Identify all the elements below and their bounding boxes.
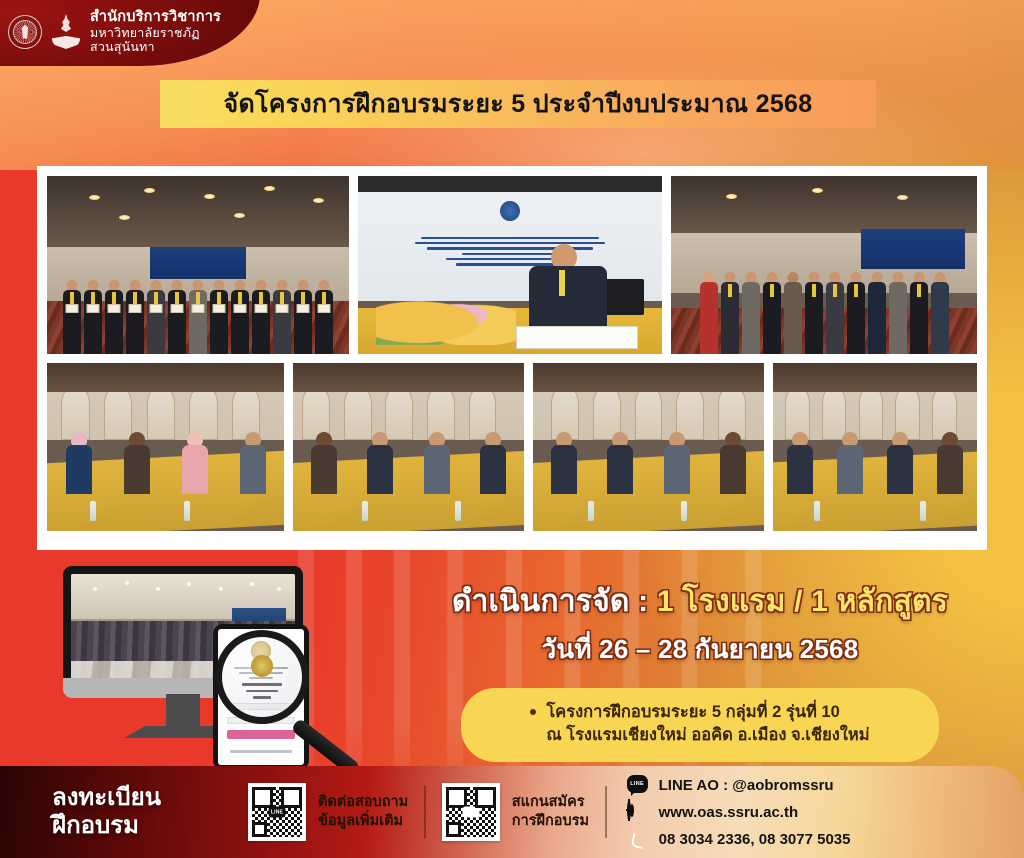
photo-row-top [47, 176, 977, 354]
photo-speaker-podium [358, 176, 662, 354]
qr-code-icon-register[interactable] [442, 783, 500, 841]
detail-line-1: โครงการฝึกอบรมระยะ 5 กลุ่มที่ 2 รุ่นที่ … [546, 701, 869, 724]
contact-line-row[interactable]: LINE LINE AO : @aobromssru [627, 775, 851, 796]
line-icon-badge: LINE [627, 775, 648, 793]
register-line1: ลงทะเบียน [52, 784, 248, 812]
bullet-dot-icon [530, 709, 536, 715]
contact-phone-row[interactable]: 08 3034 2336, 08 3077 5035 [627, 829, 851, 850]
date-line: วันที่ 26 – 28 กันยายน 2568 [400, 629, 1000, 670]
crown-book-emblem-icon [51, 14, 81, 50]
footer-divider-2 [605, 786, 607, 838]
headline-row: ดำเนินการจัด : 1 โรงแรม / 1 หลักสูตร [400, 578, 1000, 625]
qr-contact-group[interactable]: LINE ติดต่อสอบถาม ข้อมูลเพิ่มเติม [248, 783, 408, 841]
poster-root: สำนักบริการวิชาการ มหาวิทยาลัยราชภัฏสวนส… [0, 0, 1024, 858]
qr-register-label-line2: การฝึกอบรม [512, 812, 589, 831]
photo-group-certificates [47, 176, 349, 354]
qr-register-label-line1: สแกนสมัคร [512, 793, 589, 812]
contact-list: LINE LINE AO : @aobromssru www.oas.ssru.… [627, 775, 851, 850]
photo-large-group [671, 176, 977, 354]
qr-contact-label: ติดต่อสอบถาม ข้อมูลเพิ่มเติม [318, 793, 408, 831]
detail-line-2: ณ โรงแรมเชียงใหม่ ออคิด อ.เมือง จ.เชียงใ… [546, 724, 869, 747]
qr-register-badge [462, 807, 479, 818]
device-graphic [63, 566, 363, 771]
qr-line-badge: LINE [269, 807, 286, 818]
photo-audience-1 [47, 363, 284, 531]
photo-audience-4 [773, 363, 977, 531]
register-line2: ฝึกอบรม [52, 812, 248, 840]
register-label: ลงทะเบียน ฝึกอบรม [0, 784, 248, 840]
contact-line-text: LINE AO : @aobromssru [659, 777, 834, 794]
form-submit-button[interactable] [227, 730, 296, 739]
headline-prefix: ดำเนินการจัด : [452, 585, 657, 618]
qr-register-label: สแกนสมัคร การฝึกอบรม [512, 793, 589, 831]
photo-row-bottom [47, 363, 977, 531]
qr-code-icon-contact[interactable]: LINE [248, 783, 306, 841]
headline-highlight: 1 โรงแรม / 1 หลักสูตร [657, 585, 948, 618]
details-box: โครงการฝึกอบรมระยะ 5 กลุ่มที่ 2 รุ่นที่ … [461, 688, 939, 762]
qr-register-group[interactable]: สแกนสมัคร การฝึกอบรม [442, 783, 589, 841]
university-seal-icon [8, 15, 42, 49]
globe-icon [627, 802, 648, 823]
contact-phone-text: 08 3034 2336, 08 3077 5035 [659, 831, 851, 848]
footer-bar: ลงทะเบียน ฝึกอบรม LINE ติดต่อสอบถาม ข้อม… [0, 766, 1024, 858]
contact-website-row[interactable]: www.oas.ssru.ac.th [627, 802, 851, 823]
title-band: จัดโครงการฝึกอบรมระยะ 5 ประจำปีงบประมาณ … [160, 80, 876, 128]
line-icon: LINE [627, 775, 648, 796]
photo-audience-2 [293, 363, 524, 531]
photo-gallery-panel [37, 166, 987, 550]
header-org-line2: มหาวิทยาลัยราชภัฏสวนสุนันทา [90, 26, 260, 55]
phone-icon [627, 829, 648, 850]
header-org-name: สำนักบริการวิชาการ มหาวิทยาลัยราชภัฏสวนส… [90, 9, 260, 54]
page-title: จัดโครงการฝึกอบรมระยะ 5 ประจำปีงบประมาณ … [224, 84, 813, 124]
footer-divider-1 [424, 786, 426, 838]
header-org-line1: สำนักบริการวิชาการ [90, 9, 260, 26]
main-info-block: ดำเนินการจัด : 1 โรงแรม / 1 หลักสูตร วัน… [400, 578, 1000, 762]
qr-contact-label-line2: ข้อมูลเพิ่มเติม [318, 812, 408, 831]
qr-contact-label-line1: ติดต่อสอบถาม [318, 793, 408, 812]
contact-website-text: www.oas.ssru.ac.th [659, 804, 799, 821]
photo-audience-3 [533, 363, 764, 531]
magnifying-glass-icon [215, 630, 309, 724]
